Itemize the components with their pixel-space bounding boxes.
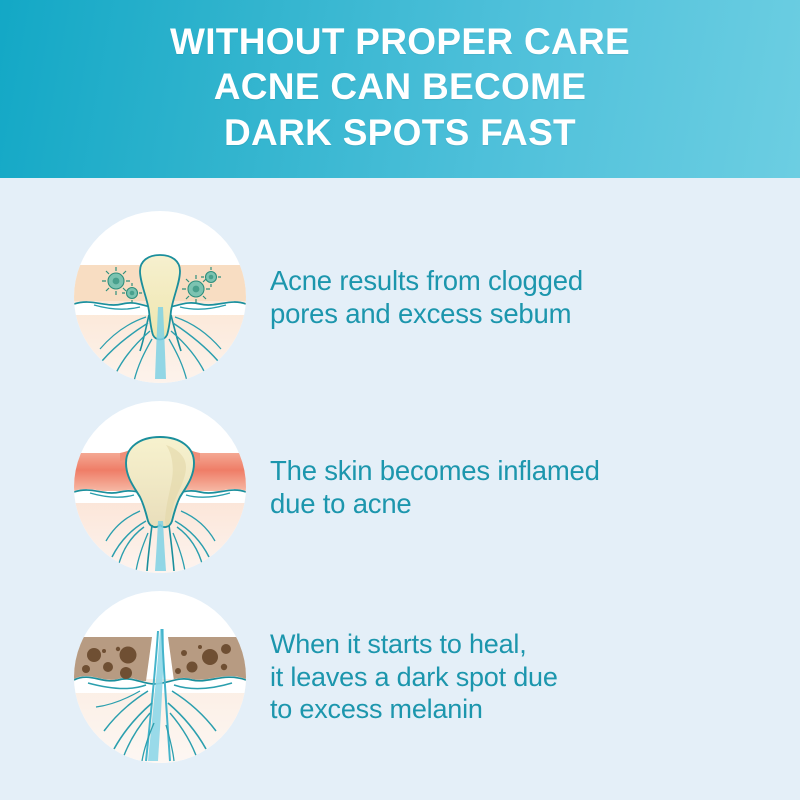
clogged-pore-with-bacteria-illustration — [74, 211, 246, 383]
infographic-page: WITHOUT PROPER CARE ACNE CAN BECOME DARK… — [0, 0, 800, 800]
headline-line-1: WITHOUT PROPER CARE — [170, 19, 630, 64]
inflamed-skin-lesion-illustration — [74, 401, 246, 573]
step-caption-3: When it starts to heal, it leaves a dark… — [270, 628, 800, 725]
step-row-3: When it starts to heal, it leaves a dark… — [0, 587, 800, 767]
step-row-1: Acne results from clogged pores and exce… — [0, 207, 800, 387]
step-caption-2: The skin becomes inflamed due to acne — [270, 454, 800, 520]
header-banner: WITHOUT PROPER CARE ACNE CAN BECOME DARK… — [0, 0, 800, 178]
step-caption-1: Acne results from clogged pores and exce… — [270, 264, 800, 330]
step-row-2: The skin becomes inflamed due to acne — [0, 397, 800, 577]
dark-spot-melanin-illustration — [74, 591, 246, 763]
headline-line-2: ACNE CAN BECOME — [214, 64, 586, 109]
headline-line-3: DARK SPOTS FAST — [224, 110, 576, 155]
